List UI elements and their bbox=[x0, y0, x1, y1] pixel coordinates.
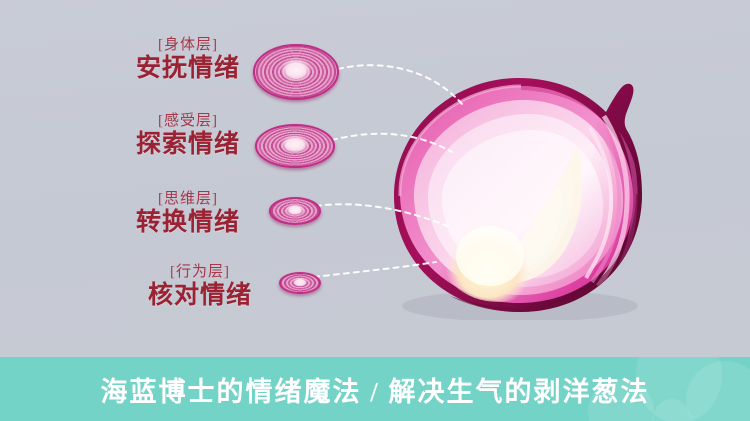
layer-action-2: 探索情绪 bbox=[118, 132, 258, 157]
onion-slice-icon-4 bbox=[279, 272, 321, 294]
infographic-canvas: [身体层] 安抚情绪 [感受层] 探索情绪 [思维层] 转换情绪 [行为层] 核… bbox=[0, 0, 750, 421]
layer-action-4: 核对情绪 bbox=[130, 283, 270, 308]
onion-slice-icon-1 bbox=[253, 44, 339, 100]
layer-label-4: [行为层] 核对情绪 bbox=[130, 265, 270, 308]
layer-label-2: [感受层] 探索情绪 bbox=[118, 114, 258, 157]
slice-rim bbox=[253, 44, 339, 100]
layer-action-1: 安抚情绪 bbox=[118, 56, 258, 81]
caption-text: 海蓝博士的情绪魔法 / 解决生气的剥洋葱法 bbox=[100, 370, 649, 409]
onion-slice-icon-3 bbox=[269, 197, 321, 225]
layer-action-3: 转换情绪 bbox=[118, 210, 258, 235]
halved-onion-illustration bbox=[378, 70, 668, 320]
slice-rim bbox=[269, 197, 321, 225]
slice-rim bbox=[279, 272, 321, 294]
onion-core bbox=[456, 226, 524, 286]
slice-rim bbox=[255, 124, 335, 168]
layer-tag-2: [感受层] bbox=[118, 114, 258, 129]
layer-label-1: [身体层] 安抚情绪 bbox=[118, 38, 258, 81]
layer-tag-4: [行为层] bbox=[130, 265, 270, 280]
layer-tag-1: [身体层] bbox=[118, 38, 258, 53]
layer-tag-3: [思维层] bbox=[118, 192, 258, 207]
layer-label-3: [思维层] 转换情绪 bbox=[118, 192, 258, 235]
onion-slice-icon-2 bbox=[255, 124, 335, 168]
caption-bar: 海蓝博士的情绪魔法 / 解决生气的剥洋葱法 bbox=[0, 357, 750, 421]
